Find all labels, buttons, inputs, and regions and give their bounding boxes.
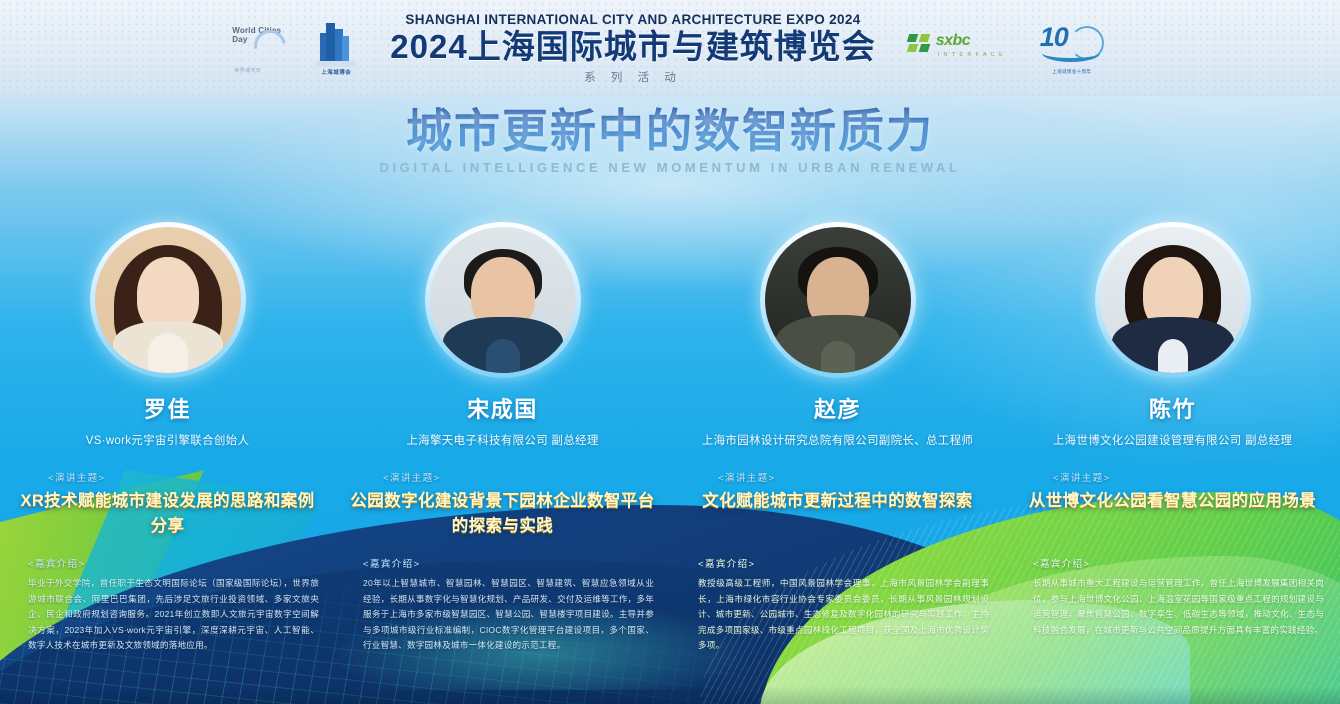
header-title-english: SHANGHAI INTERNATIONAL CITY AND ARCHITEC… — [390, 12, 875, 27]
avatar — [765, 227, 911, 373]
bio-label: <嘉宾介绍> — [28, 556, 319, 570]
avatar-ring — [90, 222, 246, 378]
hero-title-english: DIGITAL INTELLIGENCE NEW MOMENTUM IN URB… — [0, 160, 1340, 175]
sponsor-green-logo-word: sxbc — [936, 32, 970, 50]
expo-tower-caption: 上海城博会 — [314, 68, 358, 76]
bio-block: <嘉宾介绍> 20年以上智慧城市、智慧园林、智慧园区、智慧建筑、智慧应急领域从业… — [335, 556, 670, 704]
bio-text: 长期从事城市重大工程建设与运营管理工作，曾任上海世博发展集团相关岗位，参与上海世… — [1033, 576, 1324, 638]
sponsor-green-logo-icon: sxbc I N T E R F A C E — [908, 30, 1010, 66]
speaker-organization: 上海市园林设计研究总院有限公司副院长、总工程师 — [702, 432, 973, 448]
header-title-block: SHANGHAI INTERNATIONAL CITY AND ARCHITEC… — [384, 12, 881, 85]
speaker-card: 宋成国 上海擎天电子科技有限公司 副总经理 — [335, 222, 670, 462]
topic-label: <演讲主题> — [1019, 470, 1326, 484]
avatar — [95, 227, 241, 373]
speaker-card: 赵彦 上海市园林设计研究总院有限公司副院长、总工程师 — [670, 222, 1005, 462]
world-cities-day-logo-icon: World Cities Day 世界城市日 — [232, 22, 288, 74]
speaker-name: 陈竹 — [1149, 392, 1196, 424]
speaker-card: 陈竹 上海世博文化公园建设管理有限公司 副总经理 — [1005, 222, 1340, 462]
poster-stage: World Cities Day 世界城市日 上海城博会 SHANGHAI IN… — [0, 0, 1340, 704]
speaker-organization: VS·work元宇宙引擎联合创始人 — [86, 432, 250, 448]
speaker-card: 罗佳 VS·work元宇宙引擎联合创始人 — [0, 222, 335, 462]
bio-label: <嘉宾介绍> — [1033, 556, 1324, 570]
anniversary-caption: 上海城博会十周年 — [1036, 69, 1108, 75]
topic-row: <演讲主题> XR技术赋能城市建设发展的思路和案例分享 <演讲主题> 公园数字化… — [0, 470, 1340, 545]
avatar — [430, 227, 576, 373]
speaker-name: 赵彦 — [814, 392, 861, 424]
speaker-row: 罗佳 VS·work元宇宙引擎联合创始人 宋成国 上海擎天电子科技有限公司 副总… — [0, 222, 1340, 462]
bio-label: <嘉宾介绍> — [698, 556, 989, 570]
topic-block: <演讲主题> 从世博文化公园看智慧公园的应用场景 — [1005, 470, 1340, 545]
avatar-ring — [425, 222, 581, 378]
topic-label: <演讲主题> — [14, 470, 321, 484]
bio-text: 教授级高级工程师，中国风景园林学会理事，上海市风景园林学会副理事长，上海市绿化市… — [698, 576, 989, 654]
sponsor-green-logo-sub: I N T E R F A C E — [938, 52, 1004, 58]
bio-block: <嘉宾介绍> 教授级高级工程师，中国风景园林学会理事，上海市风景园林学会副理事长… — [670, 556, 1005, 704]
bio-block: <嘉宾介绍> 毕业于外交学院，曾任职于生态文明国际论坛（国家级国际论坛），世界旅… — [0, 556, 335, 704]
topic-block: <演讲主题> XR技术赋能城市建设发展的思路和案例分享 — [0, 470, 335, 545]
expo-tower-logo-icon: 上海城博会 — [314, 19, 358, 77]
speaker-name: 宋成国 — [467, 392, 538, 424]
topic-text: 文化赋能城市更新过程中的数智探索 — [684, 489, 991, 514]
speaker-organization: 上海世博文化公园建设管理有限公司 副总经理 — [1053, 432, 1293, 448]
bio-text: 20年以上智慧城市、智慧园林、智慧园区、智慧建筑、智慧应急领域从业经验，长期从事… — [363, 576, 654, 654]
topic-label: <演讲主题> — [349, 470, 656, 484]
header-series-label: 系 列 活 动 — [390, 69, 875, 85]
speaker-organization: 上海擎天电子科技有限公司 副总经理 — [406, 432, 598, 448]
topic-text: 从世博文化公园看智慧公园的应用场景 — [1019, 489, 1326, 514]
topic-label: <演讲主题> — [684, 470, 991, 484]
topic-block: <演讲主题> 公园数字化建设背景下园林企业数智平台的探索与实践 — [335, 470, 670, 545]
avatar-ring — [1095, 222, 1251, 378]
world-cities-day-sub-label: 世界城市日 — [234, 67, 261, 74]
bio-block: <嘉宾介绍> 长期从事城市重大工程建设与运营管理工作，曾任上海世博发展集团相关岗… — [1005, 556, 1340, 704]
hero-title-chinese: 城市更新中的数智新质力 — [0, 104, 1340, 158]
avatar — [1100, 227, 1246, 373]
header-title-chinese: 2024上海国际城市与建筑博览会 — [390, 28, 875, 66]
bio-text: 毕业于外交学院，曾任职于生态文明国际论坛（国家级国际论坛），世界旅游城市联合会、… — [28, 576, 319, 654]
bio-row: <嘉宾介绍> 毕业于外交学院，曾任职于生态文明国际论坛（国家级国际论坛），世界旅… — [0, 556, 1340, 704]
hero-title-block: 城市更新中的数智新质力 DIGITAL INTELLIGENCE NEW MOM… — [0, 104, 1340, 175]
header-band: World Cities Day 世界城市日 上海城博会 SHANGHAI IN… — [0, 0, 1340, 96]
bio-label: <嘉宾介绍> — [363, 556, 654, 570]
anniversary-wave-icon — [1042, 44, 1100, 62]
topic-text: XR技术赋能城市建设发展的思路和案例分享 — [14, 489, 321, 539]
topic-text: 公园数字化建设背景下园林企业数智平台的探索与实践 — [349, 489, 656, 539]
topic-block: <演讲主题> 文化赋能城市更新过程中的数智探索 — [670, 470, 1005, 545]
speaker-name: 罗佳 — [144, 392, 191, 424]
avatar-ring — [760, 222, 916, 378]
tenth-anniversary-logo-icon: 10 上海城博会十周年 — [1036, 20, 1108, 76]
